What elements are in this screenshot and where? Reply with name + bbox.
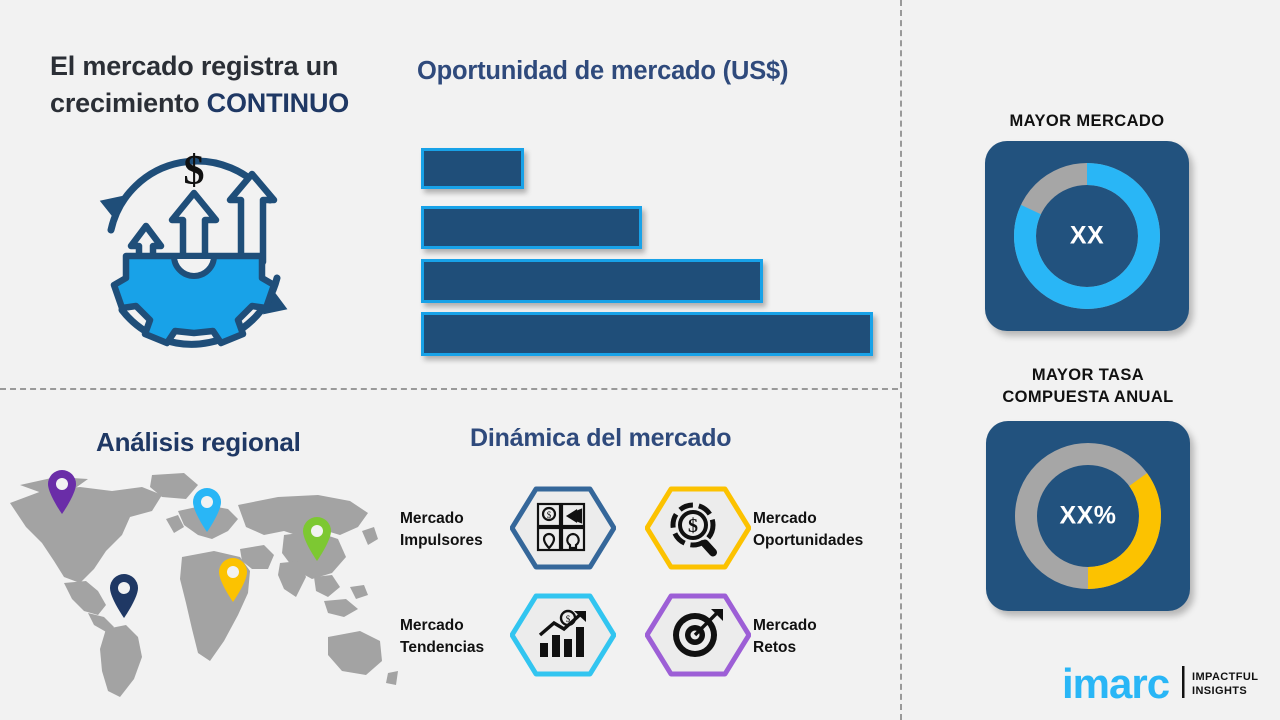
kpi-value-largest-market: XX bbox=[985, 222, 1189, 251]
market-dynamics-title: Dinámica del mercado bbox=[470, 424, 890, 453]
infographic-canvas: El mercado registra un crecimiento CONTI… bbox=[0, 0, 1280, 720]
gear-arrows-growth-icon: $ bbox=[78, 138, 310, 370]
opportunity-title: Oportunidad de mercado (US$) bbox=[417, 57, 887, 86]
regional-analysis-title: Análisis regional bbox=[96, 427, 396, 458]
world-map bbox=[2, 465, 400, 710]
imarc-wordmark: imarc bbox=[1062, 660, 1170, 707]
imarc-tagline-line1: IMPACTFUL bbox=[1192, 671, 1258, 683]
puzzle-pieces-icon: $ bbox=[538, 504, 584, 550]
dynamics-item-opportunities[interactable]: $ Mercado Oportunidades bbox=[645, 485, 895, 575]
horizontal-divider bbox=[0, 388, 898, 390]
dynamics-item-trends[interactable]: Mercado Tendencias $ bbox=[400, 592, 650, 682]
dynamics-label-trends: Mercado Tendencias bbox=[400, 615, 512, 659]
kpi-caption-highest-cagr: MAYOR TASA COMPUESTA ANUAL bbox=[948, 365, 1228, 409]
hexagon-trends: $ bbox=[510, 593, 616, 677]
svg-text:$: $ bbox=[566, 614, 571, 624]
dynamics-item-challenges[interactable]: Mercado Retos bbox=[645, 592, 895, 682]
vertical-divider bbox=[900, 0, 902, 720]
svg-text:$: $ bbox=[688, 515, 698, 537]
hexagon-opportunities: $ bbox=[645, 486, 751, 570]
kpi-value-highest-cagr: XX% bbox=[986, 502, 1190, 531]
svg-text:$: $ bbox=[547, 510, 552, 520]
bar-item-3 bbox=[421, 259, 763, 303]
dollar-symbol: $ bbox=[184, 148, 205, 194]
hexagon-drivers: $ bbox=[510, 486, 616, 570]
growth-title-line1: El mercado registra un bbox=[50, 51, 338, 81]
dynamics-label-opportunities: Mercado Oportunidades bbox=[753, 508, 865, 552]
kpi-card-largest-market: XX bbox=[985, 141, 1189, 331]
bar-item-2 bbox=[421, 206, 642, 249]
dynamics-label-drivers: Mercado Impulsores bbox=[400, 508, 512, 552]
market-opportunity-bar-chart bbox=[417, 140, 887, 355]
dynamics-item-drivers[interactable]: Mercado Impulsores $ bbox=[400, 485, 650, 575]
bar-item-1 bbox=[421, 148, 524, 189]
growth-title-line2-plain: crecimiento bbox=[50, 88, 207, 118]
dynamics-label-challenges: Mercado Retos bbox=[753, 615, 865, 659]
kpi-caption-largest-market: MAYOR MERCADO bbox=[947, 111, 1227, 133]
imarc-tagline-line2: INSIGHTS bbox=[1192, 685, 1247, 697]
bar-item-4 bbox=[421, 312, 873, 356]
growth-title: El mercado registra un crecimiento CONTI… bbox=[50, 48, 400, 123]
imarc-logo: imarc IMPACTFUL INSIGHTS bbox=[1062, 658, 1262, 710]
kpi-card-highest-cagr: XX% bbox=[986, 421, 1190, 611]
hexagon-challenges bbox=[645, 593, 751, 677]
growth-title-accent: CONTINUO bbox=[207, 88, 349, 118]
